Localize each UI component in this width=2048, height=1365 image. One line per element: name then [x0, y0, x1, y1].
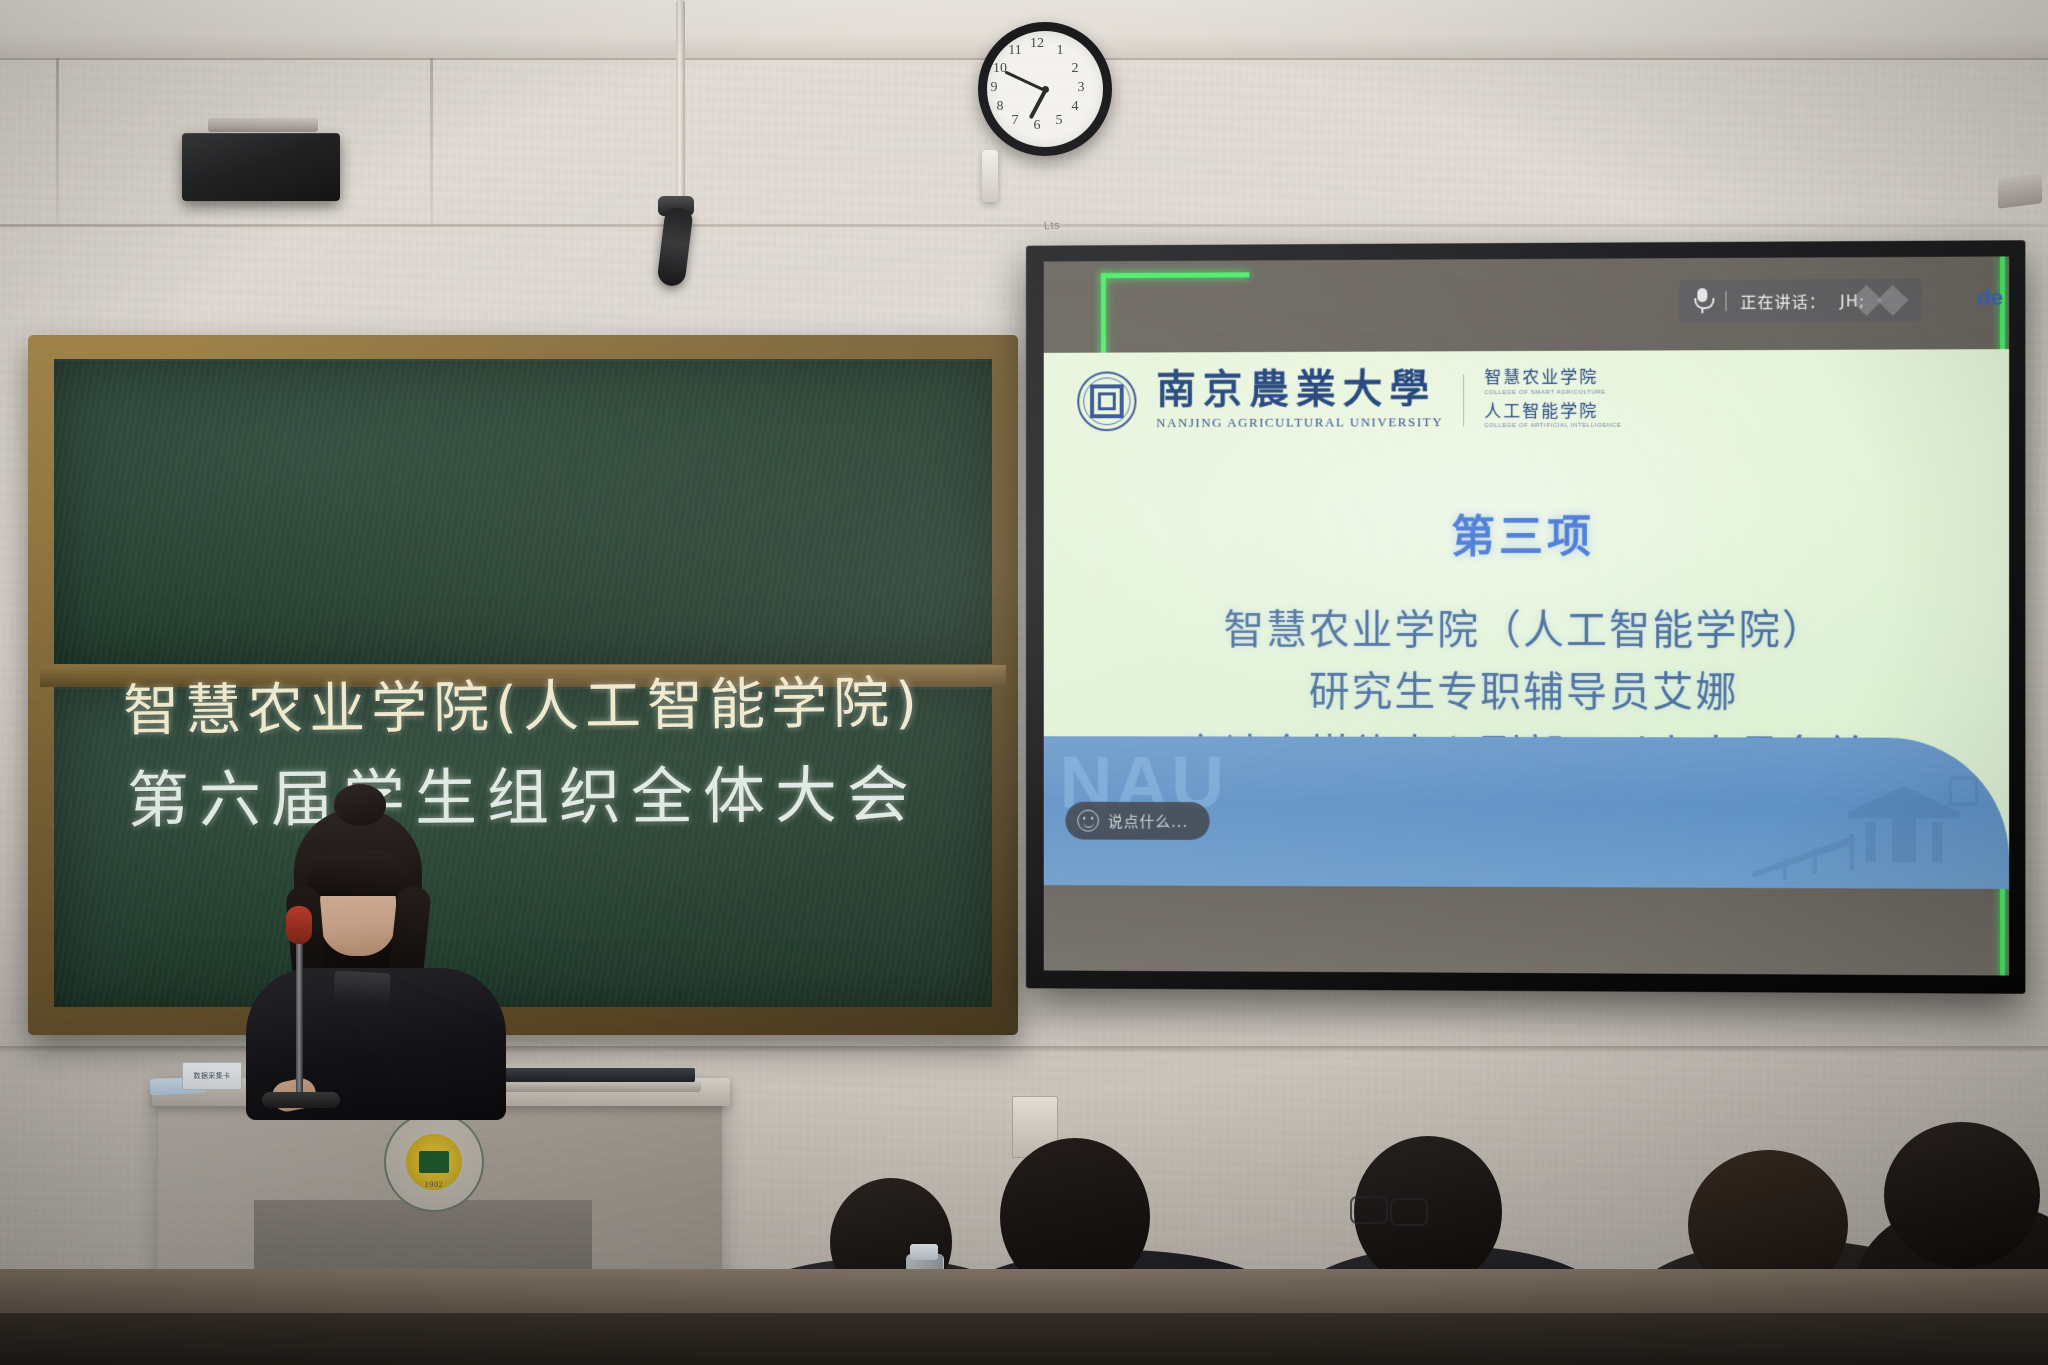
scene-vignette	[0, 0, 2048, 1365]
classroom-scene: 12 1 2 3 4 5 6 7 8 9 10 11 Lts 智慧农业学院(人工…	[0, 0, 2048, 1365]
